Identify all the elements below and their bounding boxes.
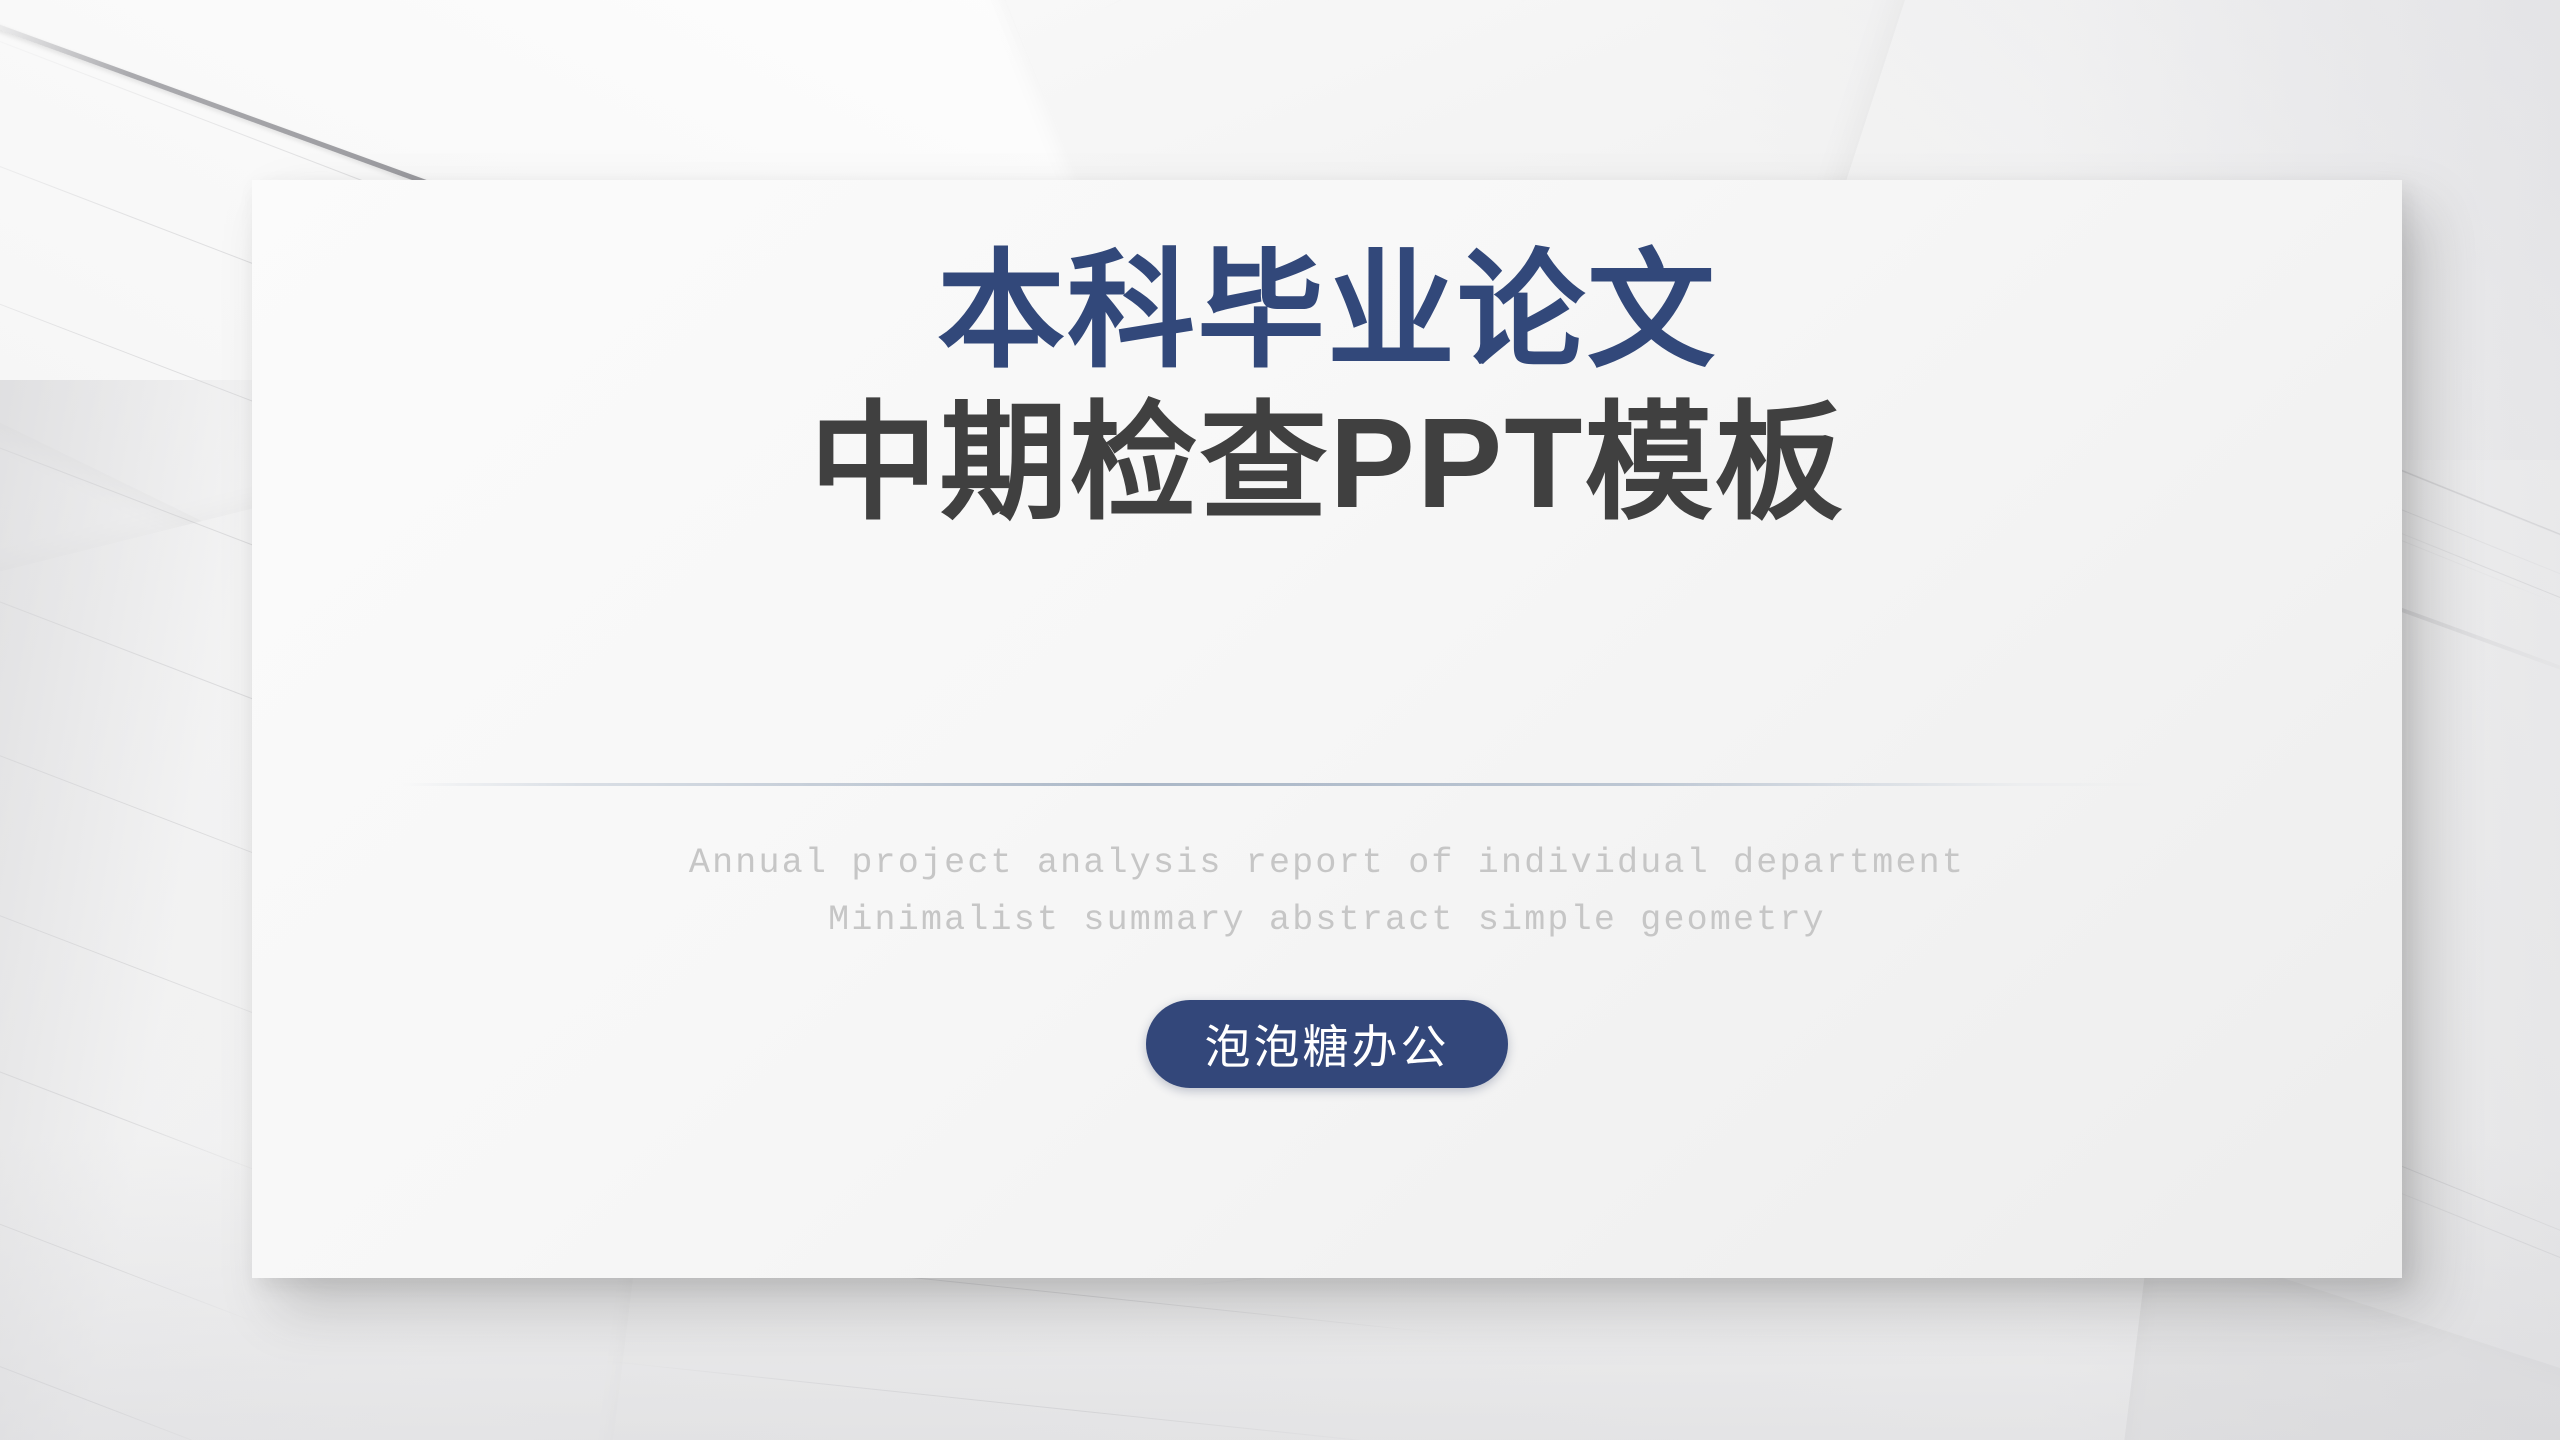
page-title-secondary: 中期检查PPT模板 bbox=[252, 390, 2402, 538]
subtitle-line-1: Annual project analysis report of indivi… bbox=[252, 835, 2402, 892]
title-block: 本科毕业论文 中期检查PPT模板 bbox=[252, 238, 2402, 539]
brand-badge-label: 泡泡糖办公 bbox=[1205, 1011, 1450, 1077]
slide-card-content: 本科毕业论文 中期检查PPT模板 Annual project analysis… bbox=[252, 180, 2402, 1278]
title-divider bbox=[402, 783, 2162, 786]
subtitle-line-2: Minimalist summary abstract simple geome… bbox=[252, 892, 2402, 949]
presentation-slide: 本科毕业论文 中期检查PPT模板 Annual project analysis… bbox=[0, 0, 2560, 1440]
page-title-primary: 本科毕业论文 bbox=[252, 238, 2402, 386]
subtitle-block: Annual project analysis report of indivi… bbox=[252, 835, 2402, 950]
brand-badge[interactable]: 泡泡糖办公 bbox=[1146, 1000, 1508, 1088]
slide-card: 本科毕业论文 中期检查PPT模板 Annual project analysis… bbox=[252, 180, 2402, 1278]
